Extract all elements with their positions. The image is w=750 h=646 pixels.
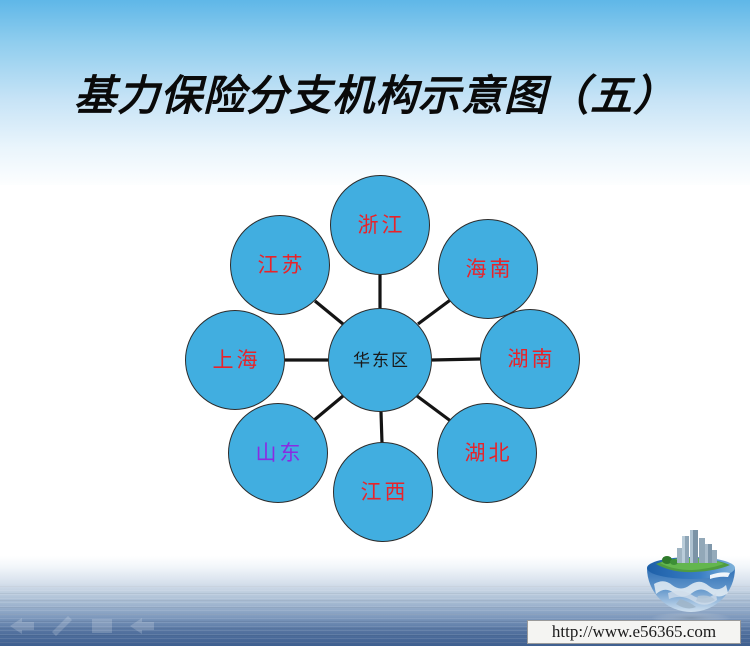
node-label-shandong: 山东 [253,443,304,464]
slide-canvas: 基力保险分支机构示意图（五） 华东区 浙江 海南 湖 [0,0,750,646]
edge-center-hainan [418,298,453,324]
node-shandong[interactable]: 山东 [228,403,328,503]
node-jiangsu[interactable]: 江苏 [230,215,330,315]
page-title: 基力保险分支机构示意图（五） [0,62,750,123]
sea-watermark-glyphs [8,612,178,638]
node-jiangxi[interactable]: 江西 [333,442,433,542]
node-label-hunan: 湖南 [505,349,556,370]
node-label-jiangsu: 江苏 [255,255,306,276]
node-hainan[interactable]: 海南 [438,219,538,319]
edge-center-shandong [313,396,343,421]
url-watermark-box: http://www.e56365.com [527,620,741,644]
globe-city-logo-icon [638,528,744,624]
node-huadong-region[interactable]: 华东区 [328,308,432,412]
node-label-hubei: 湖北 [462,443,513,464]
edge-center-hubei [417,396,452,422]
branch-structure-diagram: 华东区 浙江 海南 湖南 湖北 江西 山东 上海 江苏 [175,165,595,535]
node-shanghai[interactable]: 上海 [185,310,285,410]
node-hubei[interactable]: 湖北 [437,403,537,503]
url-watermark-text: http://www.e56365.com [552,622,716,642]
edge-center-jiangxi [381,412,382,443]
node-hunan[interactable]: 湖南 [480,309,580,409]
node-label-jiangxi: 江西 [358,482,409,503]
node-label-shanghai: 上海 [210,350,261,371]
node-label-hainan: 海南 [463,259,514,280]
node-label-zhejiang: 浙江 [355,215,406,236]
node-zhejiang[interactable]: 浙江 [330,175,430,275]
edge-center-hunan [432,359,480,360]
node-label-huadong: 华东区 [350,352,410,369]
edge-center-jiangsu [315,301,343,324]
